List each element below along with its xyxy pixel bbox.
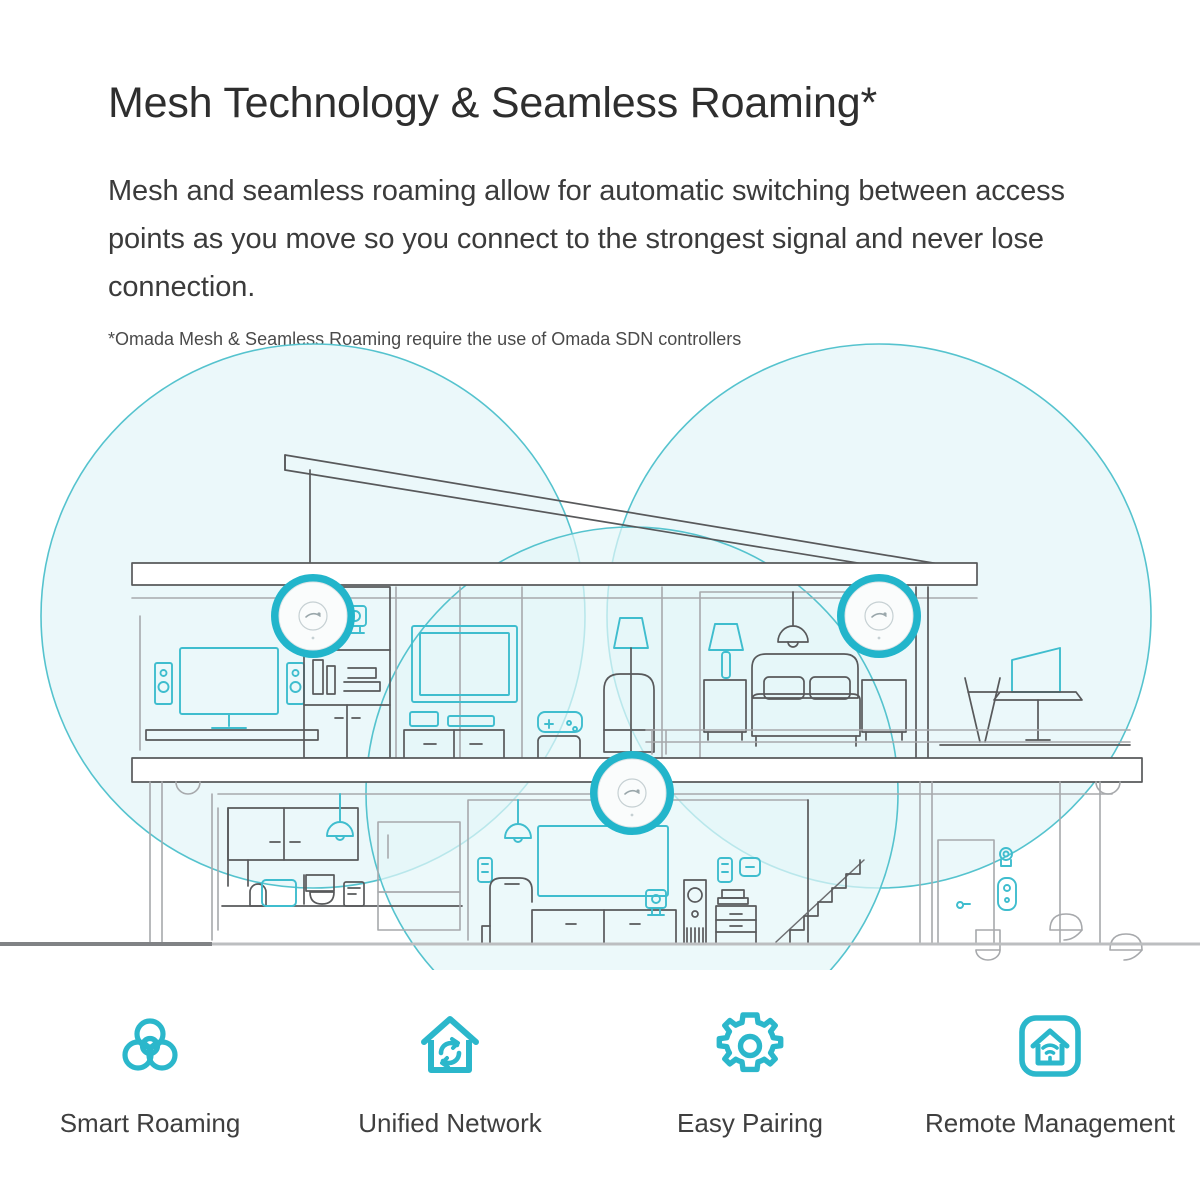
gear-icon (714, 1010, 786, 1082)
feature-label: Unified Network (358, 1108, 542, 1138)
house-sync-icon (414, 1010, 486, 1082)
access-point-lower-mid (590, 751, 674, 835)
feature-label: Easy Pairing (677, 1108, 823, 1138)
feature-label: Remote Management (925, 1108, 1175, 1138)
feature-item-remote-management[interactable]: Remote Management (900, 1010, 1200, 1138)
feature-row: Smart Roaming Unified Network (0, 1010, 1200, 1180)
house-wifi-rounded-square-icon (1014, 1010, 1086, 1082)
house-illustration: .dk{fill:none;stroke:#58595B;stroke-widt… (0, 330, 1200, 970)
trefoil-roaming-icon (114, 1010, 186, 1082)
feature-item-easy-pairing[interactable]: Easy Pairing (600, 1010, 900, 1138)
feature-label: Smart Roaming (60, 1108, 241, 1138)
feature-item-unified-network[interactable]: Unified Network (300, 1010, 600, 1138)
page-title: Mesh Technology & Seamless Roaming* (108, 79, 877, 128)
access-point-upper-left (271, 574, 355, 658)
feature-item-smart-roaming[interactable]: Smart Roaming (0, 1010, 300, 1138)
coverage-circles (41, 344, 1151, 970)
page-root: Mesh Technology & Seamless Roaming* Mesh… (0, 0, 1200, 1200)
access-point-upper-right (837, 574, 921, 658)
body-paragraph: Mesh and seamless roaming allow for auto… (108, 167, 1068, 311)
